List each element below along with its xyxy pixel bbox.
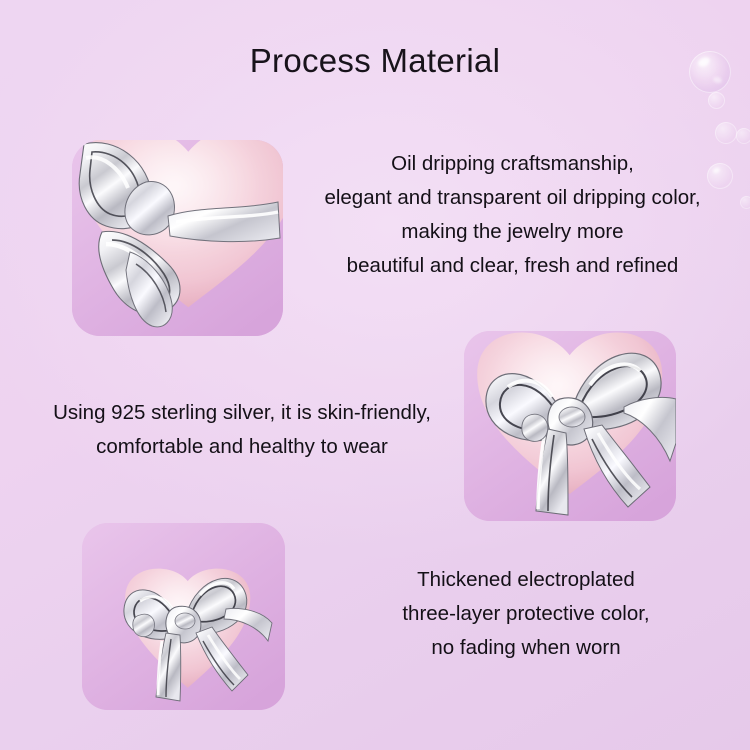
copy2-line-1: Using 925 sterling silver, it is skin-fr… bbox=[0, 396, 484, 430]
image-card-sterling-silver[interactable] bbox=[464, 331, 676, 521]
copy1-line-2: elegant and transparent oil dripping col… bbox=[283, 181, 742, 215]
bubble-small-a-icon bbox=[708, 92, 725, 109]
sterling-silver-bow-illustration bbox=[464, 331, 676, 521]
image-card-oil-dripping[interactable] bbox=[72, 140, 283, 336]
electroplated-heart-illustration bbox=[82, 523, 285, 710]
copy-oil-dripping-craftsmanship: Oil dripping craftsmanship, elegant and … bbox=[283, 147, 742, 283]
copy1-line-1: Oil dripping craftsmanship, bbox=[283, 147, 742, 181]
oil-dripping-closeup-illustration bbox=[72, 140, 283, 336]
copy3-line-2: three-layer protective color, bbox=[352, 597, 700, 631]
image-card-electroplated[interactable] bbox=[82, 523, 285, 710]
copy-electroplating-durability: Thickened electroplated three-layer prot… bbox=[352, 563, 700, 665]
bubble-small-c-icon bbox=[736, 128, 750, 144]
copy3-line-1: Thickened electroplated bbox=[352, 563, 700, 597]
bubble-small-b-icon bbox=[715, 122, 737, 144]
infographic-root: Process Material bbox=[0, 0, 750, 750]
copy1-line-4: beautiful and clear, fresh and refined bbox=[283, 249, 742, 283]
copy3-line-3: no fading when worn bbox=[352, 631, 700, 665]
copy2-line-2: comfortable and healthy to wear bbox=[0, 430, 484, 464]
page-title: Process Material bbox=[0, 41, 750, 81]
copy-sterling-silver-material: Using 925 sterling silver, it is skin-fr… bbox=[0, 396, 484, 464]
copy1-line-3: making the jewelry more bbox=[283, 215, 742, 249]
